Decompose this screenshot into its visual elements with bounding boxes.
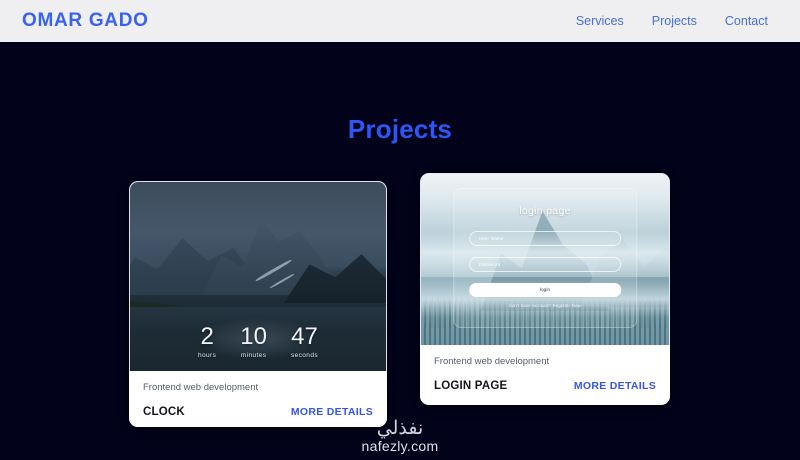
countdown-unit-hours: 2 hours <box>198 325 216 359</box>
clock-card-body: Frontend web development CLOCK MORE DETA… <box>129 371 387 427</box>
login-card-body: Frontend web development LOGIN PAGE MORE… <box>420 345 670 404</box>
countdown-seconds-label: seconds <box>291 352 318 359</box>
login-form-title: login page <box>519 205 570 217</box>
clock-more-details-link[interactable]: MORE DETAILS <box>291 406 373 418</box>
login-card-title: LOGIN PAGE <box>434 380 507 392</box>
clock-preview-image: 2 hours 10 minutes 47 seconds <box>129 181 387 371</box>
login-card-kicker: Frontend web development <box>434 356 656 367</box>
primary-navigation: Services Projects Contact <box>576 14 768 28</box>
login-more-details-link[interactable]: MORE DETAILS <box>574 380 656 392</box>
countdown-unit-seconds: 47 seconds <box>291 325 318 359</box>
countdown-unit-minutes: 10 minutes <box>240 325 267 359</box>
countdown-timer: 2 hours 10 minutes 47 seconds <box>130 325 386 359</box>
login-form-panel: login page User Name Password login don'… <box>453 188 637 328</box>
page-title: Projects <box>0 114 800 145</box>
brand-logo[interactable]: OMAR GADO <box>22 10 149 32</box>
nav-link-services[interactable]: Services <box>576 14 624 28</box>
password-placeholder: Password <box>479 262 501 267</box>
countdown-minutes-label: minutes <box>240 352 267 359</box>
clock-card-kicker: Frontend web development <box>143 382 373 393</box>
top-navbar: OMAR GADO Services Projects Contact <box>0 0 800 42</box>
project-card-clock[interactable]: 2 hours 10 minutes 47 seconds Frontend w… <box>129 181 387 427</box>
countdown-hours-value: 2 <box>198 325 216 349</box>
register-now-link[interactable]: don't have account? Register Now <box>509 303 581 308</box>
login-submit-label: login <box>540 288 550 293</box>
clock-card-footer: CLOCK MORE DETAILS <box>143 406 373 418</box>
countdown-minutes-value: 10 <box>240 325 267 349</box>
login-submit-button[interactable]: login <box>469 283 621 297</box>
projects-section: Projects 2 hours <box>0 42 800 460</box>
login-preview-image: login page User Name Password login don'… <box>420 173 670 345</box>
clock-card-title: CLOCK <box>143 406 185 418</box>
nav-link-contact[interactable]: Contact <box>725 14 768 28</box>
username-placeholder: User Name <box>479 236 504 241</box>
project-card-login-page[interactable]: login page User Name Password login don'… <box>420 173 670 405</box>
password-field[interactable]: Password <box>469 257 621 272</box>
countdown-seconds-value: 47 <box>291 325 318 349</box>
login-card-footer: LOGIN PAGE MORE DETAILS <box>434 380 656 392</box>
username-field[interactable]: User Name <box>469 231 621 246</box>
nav-link-projects[interactable]: Projects <box>652 14 697 28</box>
countdown-hours-label: hours <box>198 352 216 359</box>
